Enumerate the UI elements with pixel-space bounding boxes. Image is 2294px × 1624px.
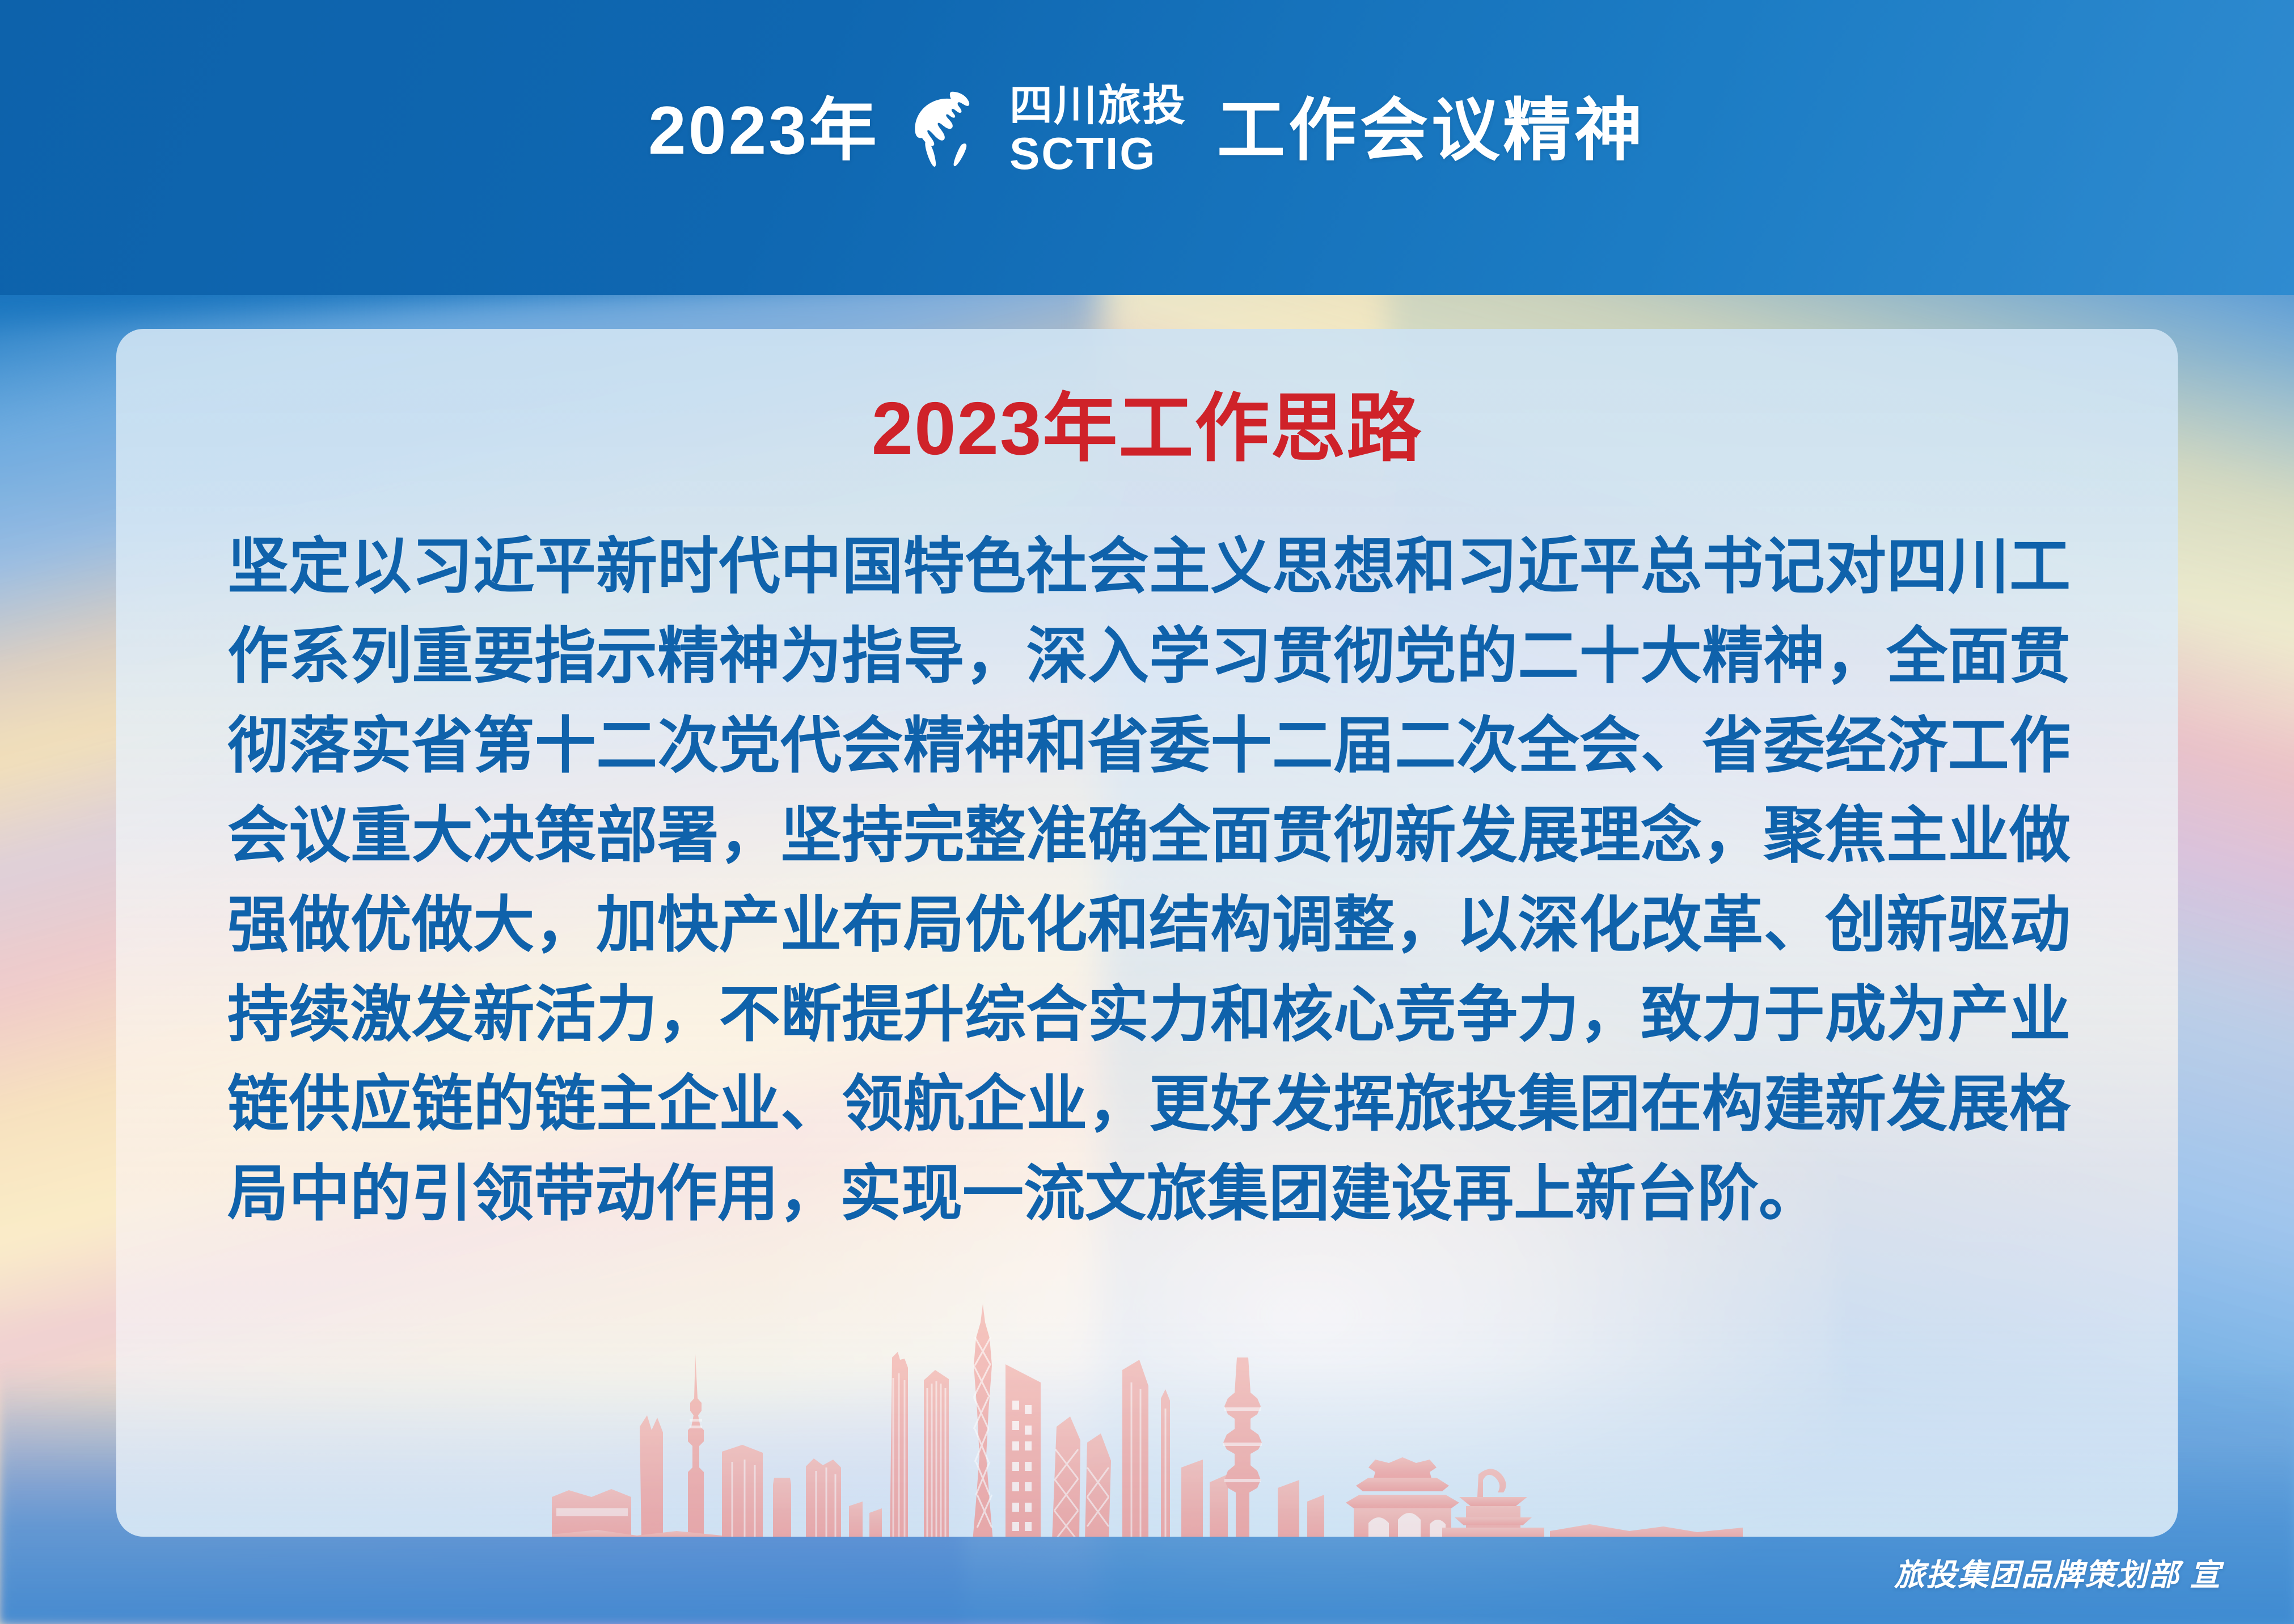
header-year-label: 2023年 — [648, 96, 879, 164]
brand-logo: 四川旅投 SCTIG — [910, 84, 1186, 176]
footer-credit-label: 旅投集团品牌策划部 宣 — [1894, 1550, 2221, 1595]
card-body-text: 坚定以习近平新时代中国特色社会主义思想和习近平总书记对四川工作系列重要指示精神为… — [227, 522, 2071, 1238]
header-subject-label: 工作会议精神 — [1217, 96, 1646, 164]
page-title: 2023年工作思路 — [116, 391, 2178, 466]
brand-logo-cn-label: 四川旅投 — [1009, 84, 1186, 128]
header: 2023年 四川旅投 SCTIG 工作会议精神 — [0, 0, 2294, 261]
body-paragraph: 坚定以习近平新时代中国特色社会主义思想和习近平总书记对四川工作系列重要指示精神为… — [227, 522, 2071, 1238]
brand-logo-text: 四川旅投 SCTIG — [1009, 84, 1186, 176]
brand-logo-en-label: SCTIG — [1009, 131, 1186, 176]
content-card: 2023年工作思路 坚定以习近平新时代中国特色社会主义思想和习近平总书记对四川工… — [116, 329, 2178, 1537]
sctig-globe-logo-icon — [910, 88, 995, 173]
poster-root: 2023年 四川旅投 SCTIG 工作会议精神 2023年工作思路 坚定以习近平… — [0, 0, 2294, 1624]
city-skyline-silhouette-icon — [552, 1297, 1743, 1537]
